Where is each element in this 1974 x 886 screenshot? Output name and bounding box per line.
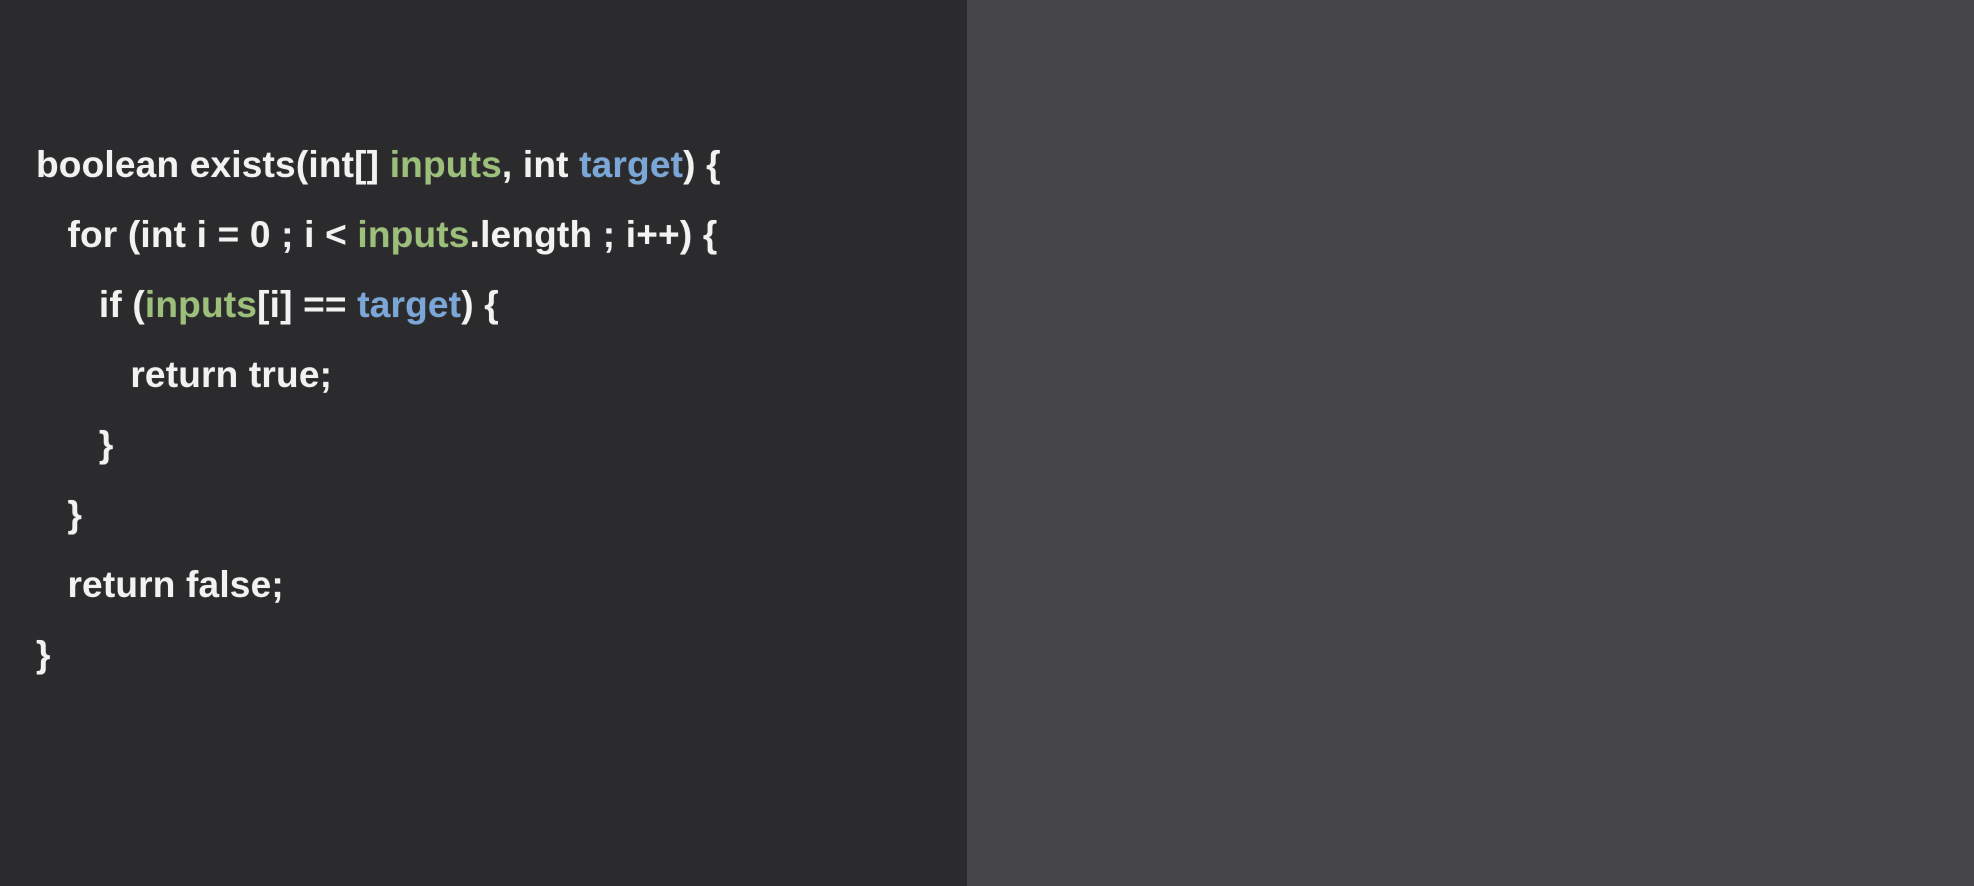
code-token: return false; bbox=[36, 564, 284, 605]
code-line: if (inputs[i] == target) { bbox=[36, 270, 936, 340]
code-line: return false; bbox=[36, 550, 936, 620]
code-token: inputs bbox=[357, 214, 469, 255]
code-line: boolean exists(int[] inputs, int target)… bbox=[36, 130, 936, 200]
code-line: for (int i = 0 ; i < inputs.length ; i++… bbox=[36, 200, 936, 270]
code-line: return true; bbox=[36, 340, 936, 410]
code-token: return true; bbox=[36, 354, 332, 395]
code-token: ) { bbox=[683, 144, 721, 185]
code-token: if ( bbox=[36, 284, 145, 325]
code-panel: boolean exists(int[] inputs, int target)… bbox=[0, 0, 967, 886]
code-token: .length ; i++) { bbox=[470, 214, 718, 255]
slide-screen: boolean exists(int[] inputs, int target)… bbox=[0, 0, 1974, 886]
code-token: target bbox=[579, 144, 683, 185]
diagram-panel: Best Worst Ω Ω(1) Ω(N) O O(1) O(N) Θ Θ(1… bbox=[967, 0, 1974, 886]
code-token: [i] == bbox=[257, 284, 357, 325]
code-token: inputs bbox=[390, 144, 502, 185]
code-token: inputs bbox=[145, 284, 257, 325]
code-token: } bbox=[36, 494, 82, 535]
code-token: , int bbox=[502, 144, 579, 185]
code-token: boolean exists(int[] bbox=[36, 144, 390, 185]
code-block: boolean exists(int[] inputs, int target)… bbox=[36, 130, 936, 690]
code-line: } bbox=[36, 410, 936, 480]
code-token: ) { bbox=[461, 284, 499, 325]
code-token: } bbox=[36, 424, 113, 465]
code-token: } bbox=[36, 634, 51, 675]
code-token: for (int i = 0 ; i < bbox=[36, 214, 357, 255]
code-line: } bbox=[36, 620, 936, 690]
code-line: } bbox=[36, 480, 936, 550]
code-token: target bbox=[357, 284, 461, 325]
